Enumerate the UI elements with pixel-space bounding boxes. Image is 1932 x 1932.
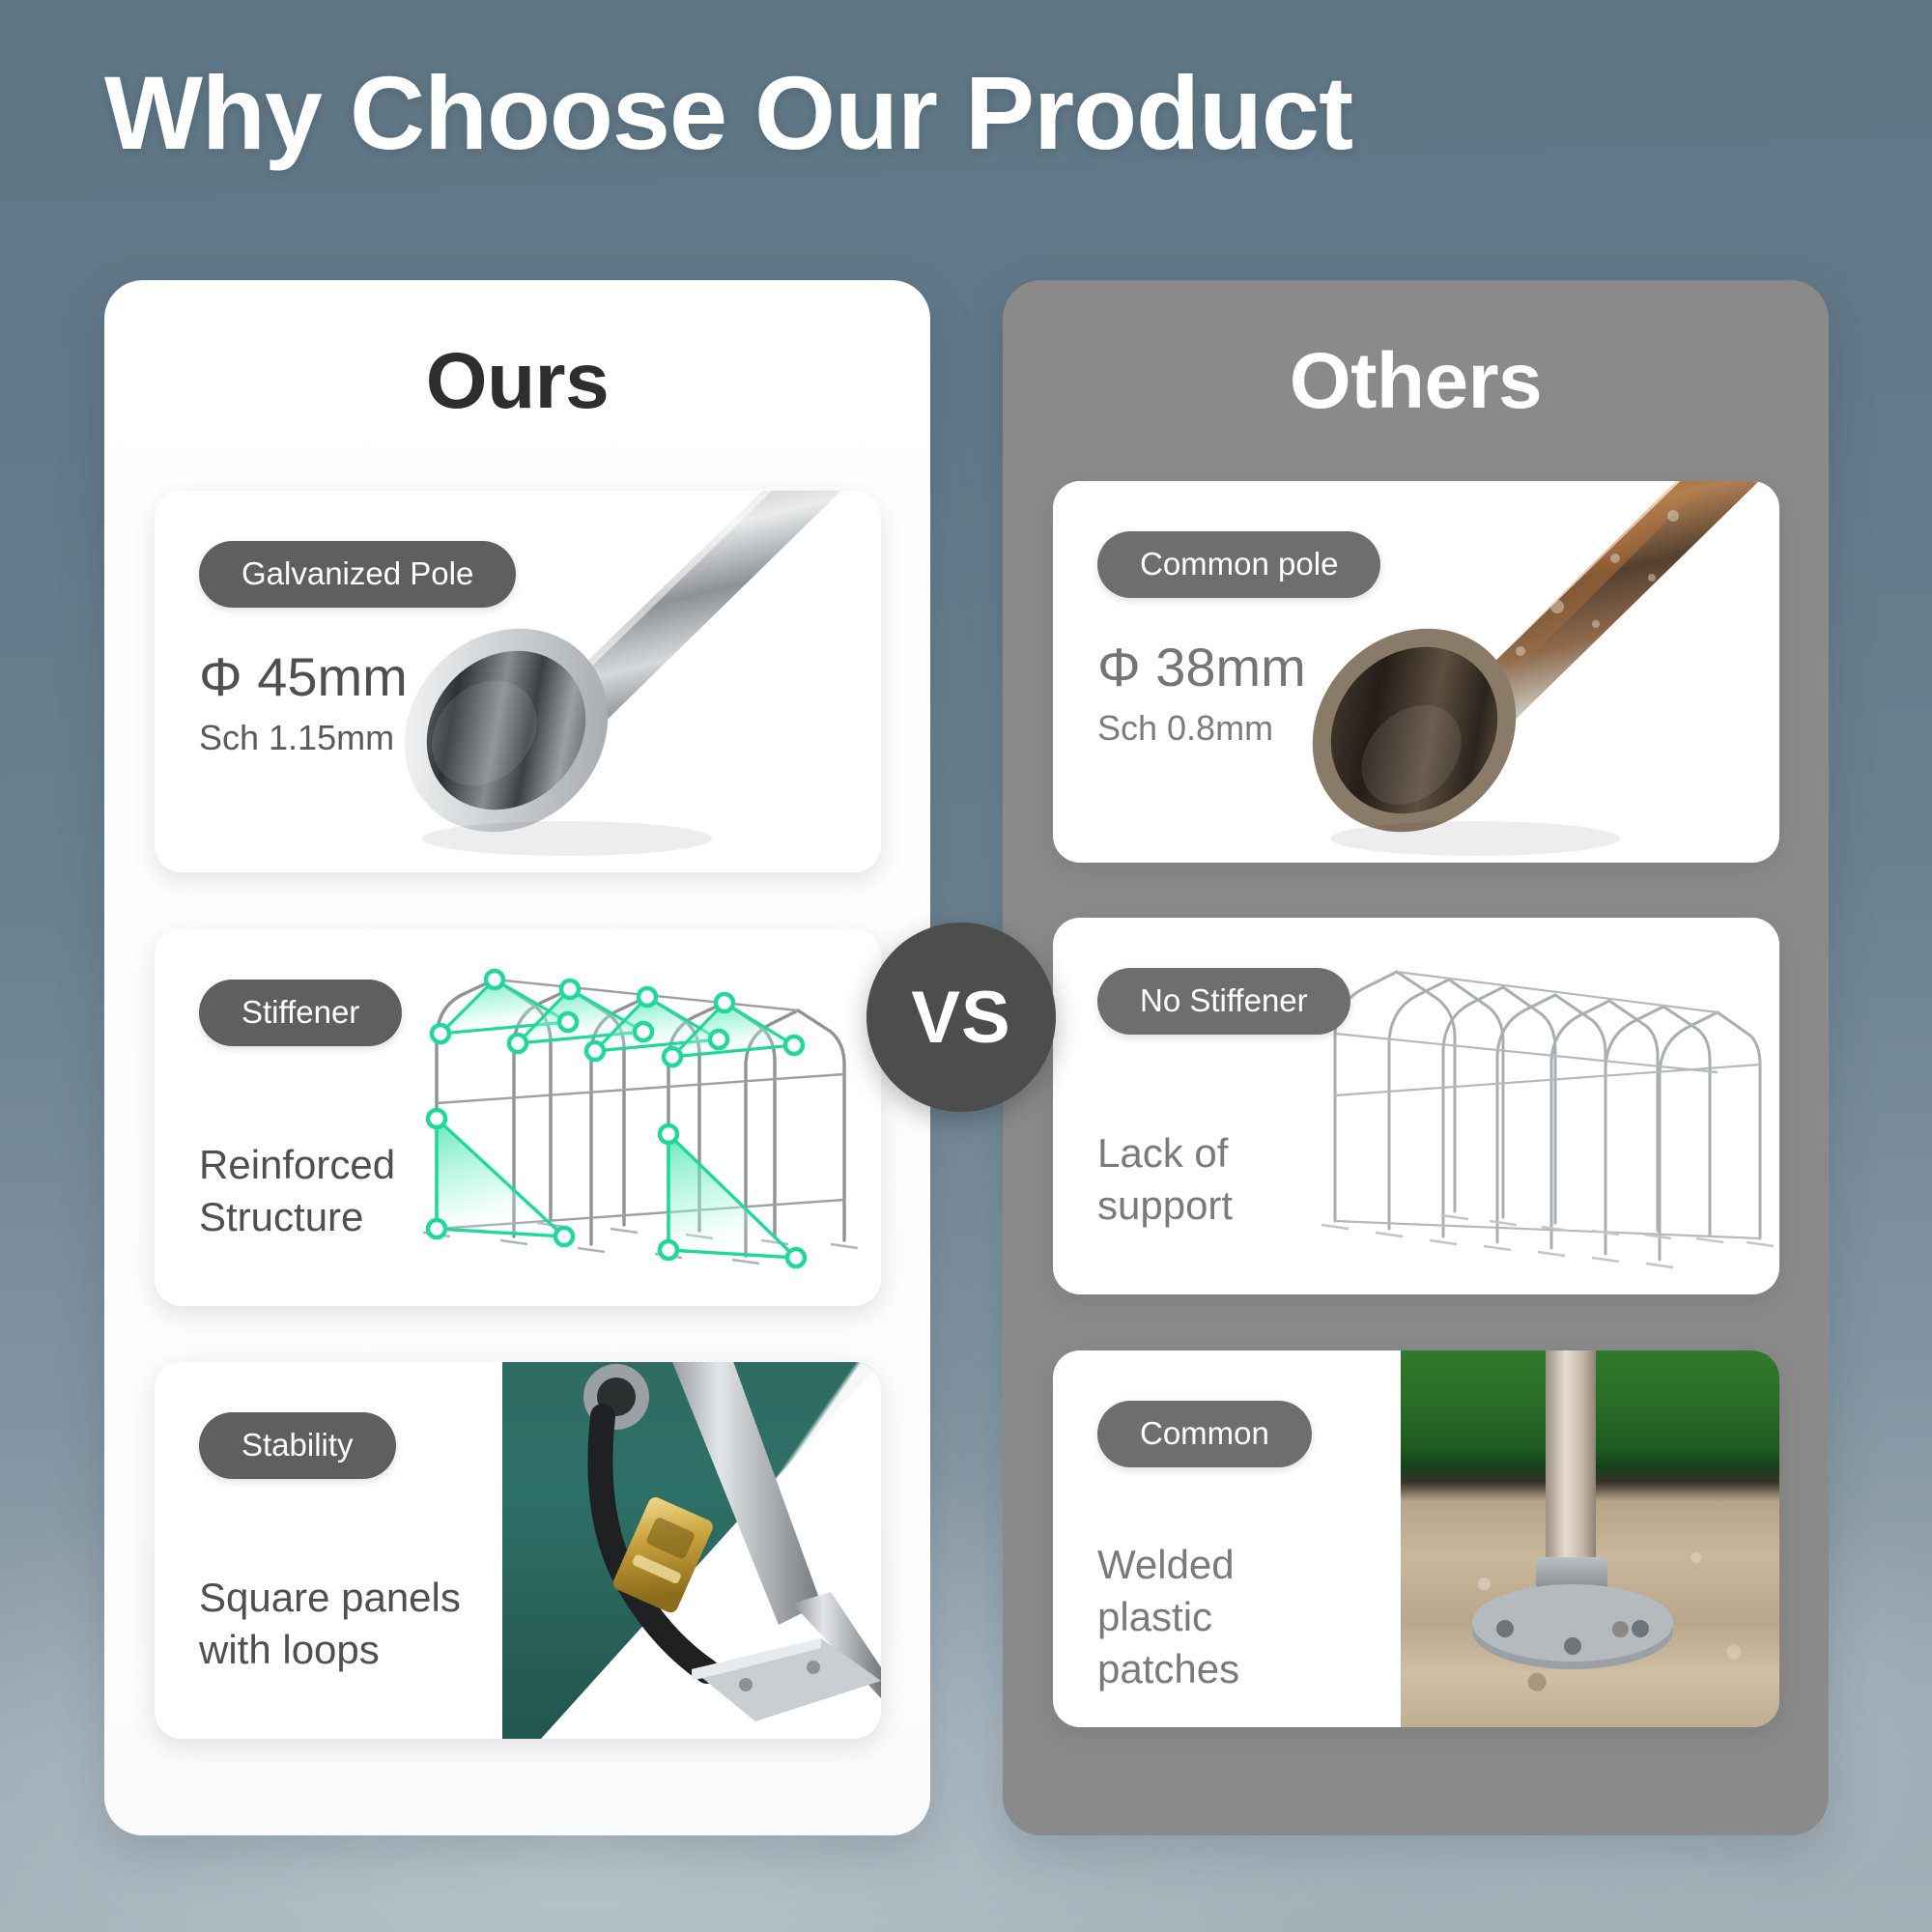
pill-common-pole: Common pole [1097, 531, 1380, 598]
card-others-no-stiffener: No Stiffener Lack of support [1053, 918, 1779, 1294]
page-title: Why Choose Our Product [104, 56, 1553, 171]
spec-diameter-ours: Φ 45mm [199, 648, 566, 705]
panel-ours-heading: Ours [104, 336, 930, 427]
desc-lack-of-support: Lack of support [1097, 1127, 1464, 1232]
card-ours-galvanized-pole: Galvanized Pole Φ 45mm Sch 1.15mm [155, 491, 881, 872]
card-ours-stability-text: Stability Square panels with loops [199, 1412, 566, 1676]
pill-no-stiffener: No Stiffener [1097, 968, 1350, 1035]
panel-ours: Ours [104, 280, 930, 1835]
desc-square-panels: Square panels with loops [199, 1572, 566, 1676]
pill-common: Common [1097, 1401, 1312, 1467]
card-ours-stability: Stability Square panels with loops [155, 1362, 881, 1739]
panel-others-heading: Others [1003, 336, 1829, 427]
pill-stability: Stability [199, 1412, 396, 1479]
panel-others: Others [1003, 280, 1829, 1835]
desc-reinforced-structure: Reinforced Structure [199, 1139, 566, 1243]
vs-badge: VS [867, 923, 1056, 1112]
card-others-common-pole-text: Common pole Φ 38mm Sch 0.8mm [1097, 531, 1464, 748]
spec-diameter-others: Φ 38mm [1097, 639, 1464, 696]
pill-stiffener: Stiffener [199, 980, 402, 1046]
spec-thickness-others: Sch 0.8mm [1097, 709, 1464, 748]
card-ours-stiffener: Stiffener Reinforced Structure [155, 929, 881, 1306]
card-others-common-patches-text: Common Welded plastic patches [1097, 1401, 1464, 1694]
card-others-no-stiffener-text: No Stiffener Lack of support [1097, 968, 1464, 1232]
spec-thickness-ours: Sch 1.15mm [199, 719, 566, 757]
card-ours-stiffener-text: Stiffener Reinforced Structure [199, 980, 566, 1243]
card-ours-galvanized-pole-text: Galvanized Pole Φ 45mm Sch 1.15mm [199, 541, 566, 757]
desc-welded-plastic-patches: Welded plastic patches [1097, 1539, 1464, 1694]
pill-galvanized-pole: Galvanized Pole [199, 541, 516, 608]
card-others-common-patches: Common Welded plastic patches [1053, 1350, 1779, 1727]
card-others-common-pole: Common pole Φ 38mm Sch 0.8mm [1053, 481, 1779, 863]
